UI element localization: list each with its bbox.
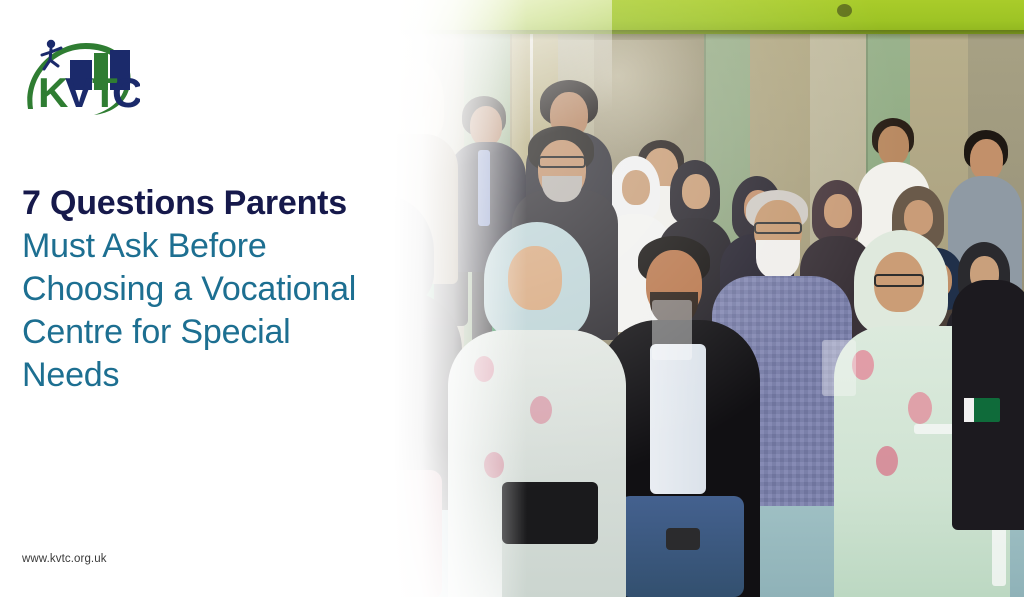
headline-line-3: Choosing a Vocational — [22, 268, 462, 311]
kvtc-logo[interactable]: K V T C — [20, 33, 140, 123]
left-content-panel: K V T C 7 Questions Parents Must Ask B — [0, 0, 470, 597]
website-url[interactable]: www.kvtc.org.uk — [22, 553, 107, 565]
headline-line-5: Needs — [22, 354, 462, 397]
page-title: 7 Questions Parents Must Ask Before Choo… — [22, 182, 462, 397]
headline-line-1: 7 Questions Parents — [22, 182, 462, 225]
headline-line-4: Centre for Special — [22, 311, 462, 354]
svg-text:C: C — [112, 69, 140, 116]
blog-header-banner: K V T C 7 Questions Parents Must Ask B — [0, 0, 1024, 597]
svg-text:K: K — [38, 69, 68, 116]
headline-line-2: Must Ask Before — [22, 225, 462, 268]
svg-text:V: V — [65, 69, 93, 116]
